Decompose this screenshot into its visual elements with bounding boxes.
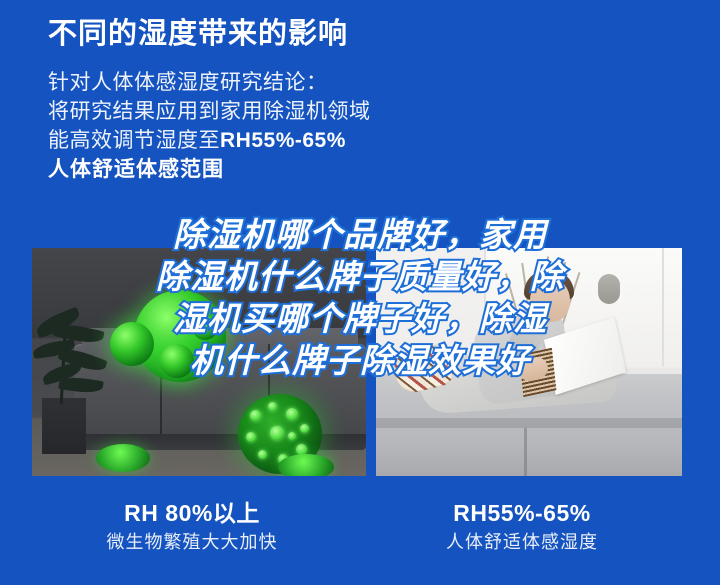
person-reading — [398, 322, 648, 448]
dark-room-background — [32, 248, 366, 476]
virus-icon — [96, 444, 150, 472]
header-line-3-prefix: 能高效调节湿度至 — [48, 129, 220, 152]
photo-row — [0, 248, 720, 476]
mold-spore-icon — [110, 322, 154, 366]
photo-comfort-room — [376, 248, 682, 476]
plant-pot — [42, 398, 86, 454]
photo-damp-room — [32, 248, 366, 476]
caption-row: RH 80%以上 微生物繁殖大大加快 RH55%-65% 人体舒适体感湿度 — [0, 498, 720, 578]
header-line-4: 人体舒适体感范围 — [48, 155, 668, 184]
caption-right-subtitle: 人体舒适体感湿度 — [372, 528, 672, 556]
header-line-2: 将研究结果应用到家用除湿机领域 — [48, 97, 668, 126]
cabinet-knob — [598, 274, 620, 304]
header-line-1: 针对人体体感湿度研究结论： — [48, 68, 668, 97]
caption-left-title: RH 80%以上 — [42, 498, 342, 528]
page-title: 不同的湿度带来的影响 — [48, 16, 668, 52]
header-line-3: 能高效调节湿度至RH55%-65% — [48, 126, 668, 155]
mold-spore-icon — [160, 344, 194, 378]
header-block: 不同的湿度带来的影响 针对人体体感湿度研究结论： 将研究结果应用到家用除湿机领域… — [48, 16, 668, 184]
mold-spore-icon — [192, 314, 218, 340]
poster-canvas: 不同的湿度带来的影响 针对人体体感湿度研究结论： 将研究结果应用到家用除湿机领域… — [0, 0, 720, 585]
person-head — [530, 278, 570, 322]
caption-right: RH55%-65% 人体舒适体感湿度 — [372, 498, 672, 556]
light-room-background — [376, 248, 682, 476]
caption-left: RH 80%以上 微生物繁殖大大加快 — [42, 498, 342, 556]
header-body: 针对人体体感湿度研究结论： 将研究结果应用到家用除湿机领域 能高效调节湿度至RH… — [48, 68, 668, 184]
caption-right-title: RH55%-65% — [372, 498, 672, 528]
caption-left-subtitle: 微生物繁殖大大加快 — [42, 528, 342, 556]
virus-icon — [278, 454, 334, 476]
cabinet-seam — [662, 248, 664, 366]
header-line-3-value: RH55%-65% — [220, 129, 346, 152]
